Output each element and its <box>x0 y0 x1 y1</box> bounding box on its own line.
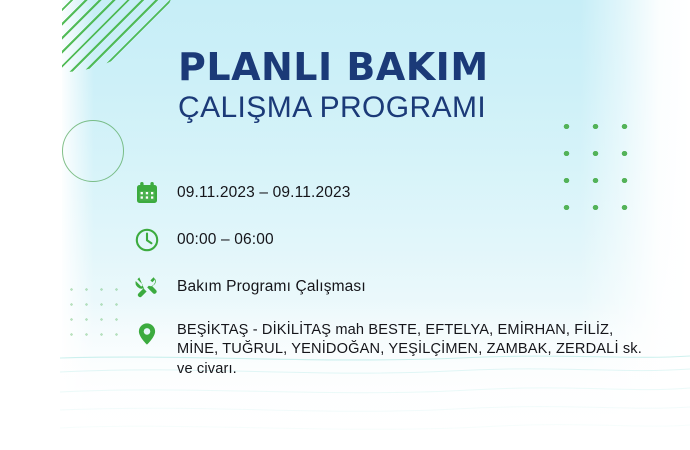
dot-grid-left-decoration <box>62 280 124 342</box>
location-line-2: MİNE, TUĞRUL, YENİDOĞAN, YEŞİLÇİMEN, ZAM… <box>177 340 642 359</box>
maintenance-work-type: Bakım Programı Çalışması <box>177 272 366 295</box>
maintenance-location: BEŞİKTAŞ - DİKİLİTAŞ mah BESTE, EFTELYA,… <box>177 319 642 379</box>
maintenance-date-range: 09.11.2023 – 09.11.2023 <box>177 178 351 201</box>
left-white-margin <box>0 0 62 450</box>
info-row-date: 09.11.2023 – 09.11.2023 <box>132 178 632 208</box>
info-row-location: BEŞİKTAŞ - DİKİLİTAŞ mah BESTE, EFTELYA,… <box>132 319 632 379</box>
location-line-1: BEŞİKTAŞ - DİKİLİTAŞ mah BESTE, EFTELYA,… <box>177 321 642 340</box>
maintenance-time-range: 00:00 – 06:00 <box>177 225 274 248</box>
tools-icon <box>132 272 162 302</box>
page-title: PLANLI BAKIM <box>178 48 598 86</box>
page-subtitle: ÇALIŞMA PROGRAMI <box>178 90 598 127</box>
circle-outline-decoration <box>62 120 124 182</box>
info-row-time: 00:00 – 06:00 <box>132 225 632 255</box>
info-list: 09.11.2023 – 09.11.2023 00:00 – 06:00 <box>132 178 632 379</box>
location-pin-icon <box>132 319 162 349</box>
location-line-3: ve civarı. <box>177 360 642 379</box>
info-row-work: Bakım Programı Çalışması <box>132 272 632 302</box>
calendar-icon <box>132 178 162 208</box>
clock-icon <box>132 225 162 255</box>
poster-title-block: PLANLI BAKIM ÇALIŞMA PROGRAMI <box>178 48 598 127</box>
planned-maintenance-poster: PLANLI BAKIM ÇALIŞMA PROGRAMI 09 <box>0 0 690 450</box>
